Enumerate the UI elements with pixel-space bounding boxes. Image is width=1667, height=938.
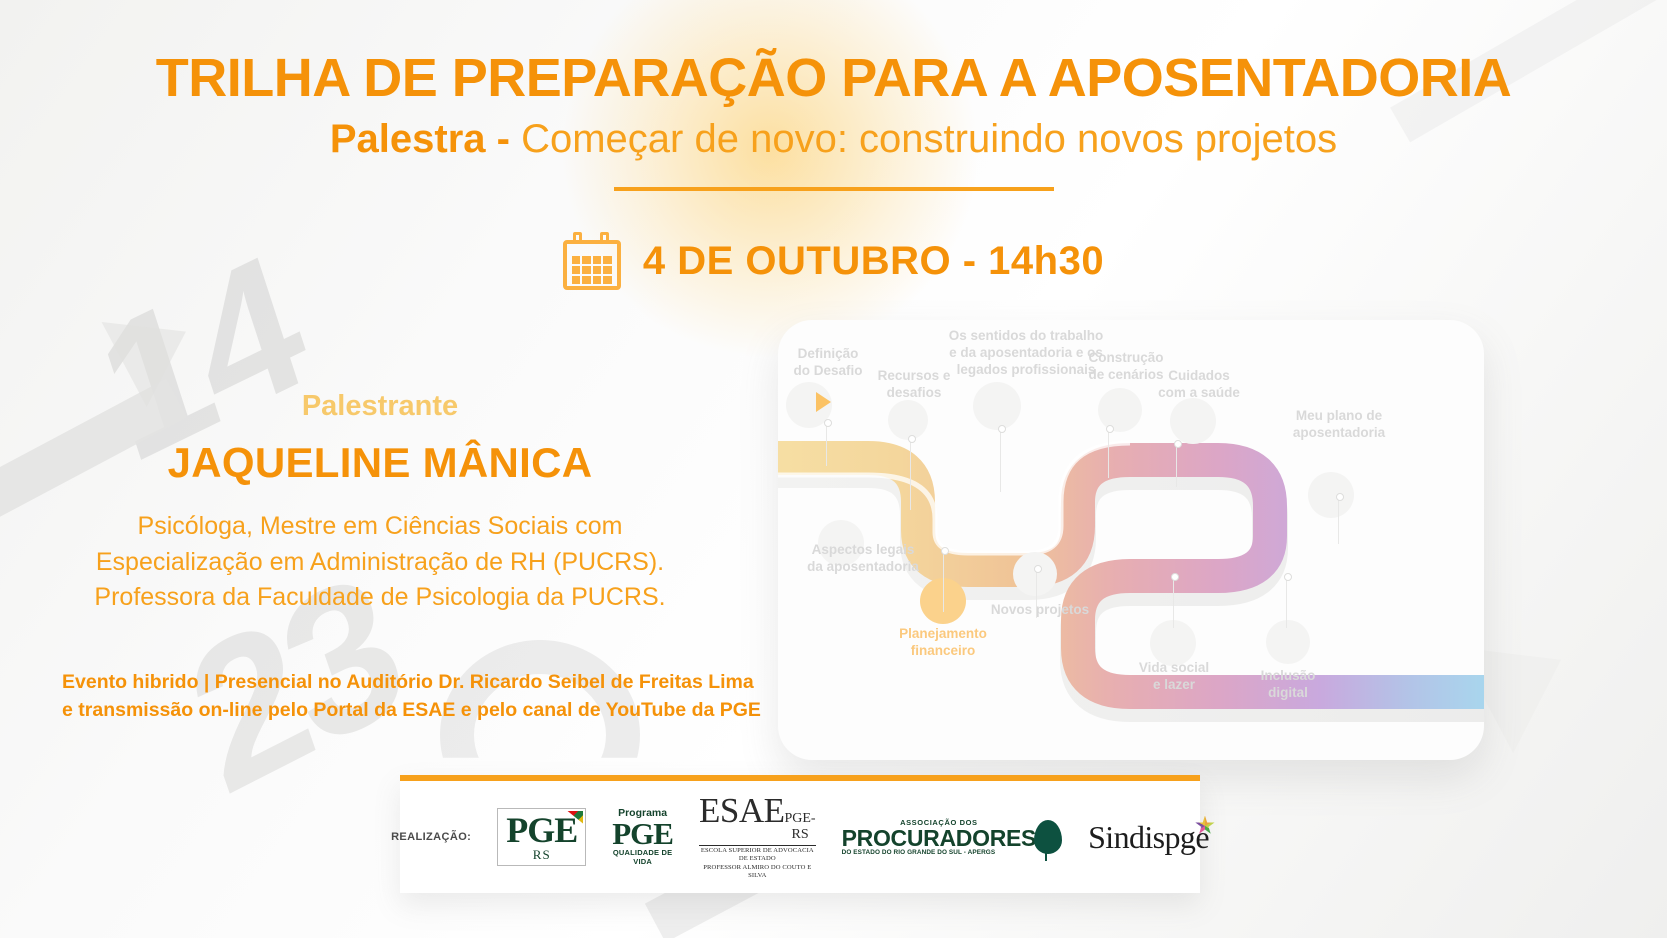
speaker-block: Palestrante JAQUELINE MÂNICA Psicóloga, … <box>40 390 720 616</box>
event-info-line: e transmissão on-line pelo Portal da ESA… <box>62 696 742 724</box>
calendar-icon <box>563 232 621 290</box>
speaker-bio-line: Professora da Faculdade de Psicologia da… <box>40 580 720 616</box>
logo-programa-pge: Programa PGE QUALIDADE DE VIDA <box>612 808 673 866</box>
roadmap-bubble <box>973 382 1021 430</box>
logo-esae: ESAE PGE-RS ESCOLA SUPERIOR DE ADVOCACIA… <box>699 794 816 879</box>
speaker-bio: Psicóloga, Mestre em Ciências Sociais co… <box>40 509 720 616</box>
speaker-bio-line: Psicóloga, Mestre em Ciências Sociais co… <box>40 509 720 545</box>
subtitle-strong: Palestra - <box>330 117 521 161</box>
roadmap-bubble <box>888 400 928 440</box>
logo-procuradores: ASSOCIAÇÃO DOS PROCURADORES DO ESTADO DO… <box>842 818 1062 856</box>
roadmap-pin <box>1286 578 1287 628</box>
realizacao-label: REALIZAÇÃO: <box>391 831 471 843</box>
logo-proc-main: PROCURADORES <box>842 827 1036 849</box>
roadmap-path-graphic <box>778 320 1484 760</box>
logo-sindispge: Sindispge <box>1088 819 1209 856</box>
logo-esae-line2: PROFESSOR ALMIRO DO COUTO E SILVA <box>699 864 816 880</box>
page-title: TRILHA DE PREPARAÇÃO PARA A APOSENTADORI… <box>0 50 1667 107</box>
event-date-text: 4 DE OUTUBRO - 14h30 <box>643 239 1104 284</box>
page-subtitle: Palestra - Começar de novo: construindo … <box>0 117 1667 161</box>
logo-esae-rule <box>699 845 816 846</box>
header-divider <box>614 187 1054 191</box>
roadmap-bubble <box>818 520 864 566</box>
roadmap-bubble <box>1013 552 1057 596</box>
play-icon <box>816 392 831 412</box>
event-info: Evento hibrido | Presencial no Auditório… <box>62 668 742 725</box>
footer-card: REALIZAÇÃO: PGE RS Programa PGE QUALIDAD… <box>400 775 1200 893</box>
logo-programa-bottom: QUALIDADE DE VIDA <box>612 848 673 866</box>
roadmap-bubble <box>1098 388 1142 432</box>
roadmap-bubble <box>1266 620 1310 664</box>
roadmap-bubble <box>1308 472 1354 518</box>
subtitle-rest: Começar de novo: construindo novos proje… <box>521 117 1337 161</box>
date-row: 4 DE OUTUBRO - 14h30 <box>0 232 1667 290</box>
roadmap-pin <box>943 552 944 612</box>
roadmap-card: Definição do Desafio Recursos e desafios… <box>778 320 1484 760</box>
logo-programa-main: PGE <box>612 819 673 848</box>
roadmap-pin <box>1000 430 1001 492</box>
roadmap-pin <box>1036 570 1037 618</box>
balloon-icon <box>1034 820 1062 854</box>
roadmap-pin <box>1108 430 1109 478</box>
speaker-kicker: Palestrante <box>40 390 720 423</box>
logo-pge-rs-main: PGE <box>506 813 577 848</box>
logo-esae-line1: ESCOLA SUPERIOR DE ADVOCACIA DE ESTADO <box>699 847 816 863</box>
event-info-line: Evento hibrido | Presencial no Auditório… <box>62 668 742 696</box>
header: TRILHA DE PREPARAÇÃO PARA A APOSENTADORI… <box>0 50 1667 191</box>
speaker-bio-line: Especialização em Administração de RH (P… <box>40 545 720 581</box>
footer-logos: REALIZAÇÃO: PGE RS Programa PGE QUALIDAD… <box>400 781 1200 893</box>
logo-pge-rs: PGE RS <box>497 808 586 867</box>
roadmap-bubble <box>1170 398 1216 444</box>
roadmap-pin <box>1173 578 1174 628</box>
roadmap-pin <box>1338 498 1339 544</box>
logo-sindispge-word: Sindispge <box>1088 819 1209 855</box>
roadmap-pin <box>910 440 911 510</box>
roadmap-pin <box>826 424 827 466</box>
speaker-name: JAQUELINE MÂNICA <box>40 439 720 487</box>
roadmap-pin <box>1176 445 1177 487</box>
logo-esae-suffix: PGE-RS <box>784 811 815 843</box>
logo-esae-main: ESAE <box>699 794 785 827</box>
